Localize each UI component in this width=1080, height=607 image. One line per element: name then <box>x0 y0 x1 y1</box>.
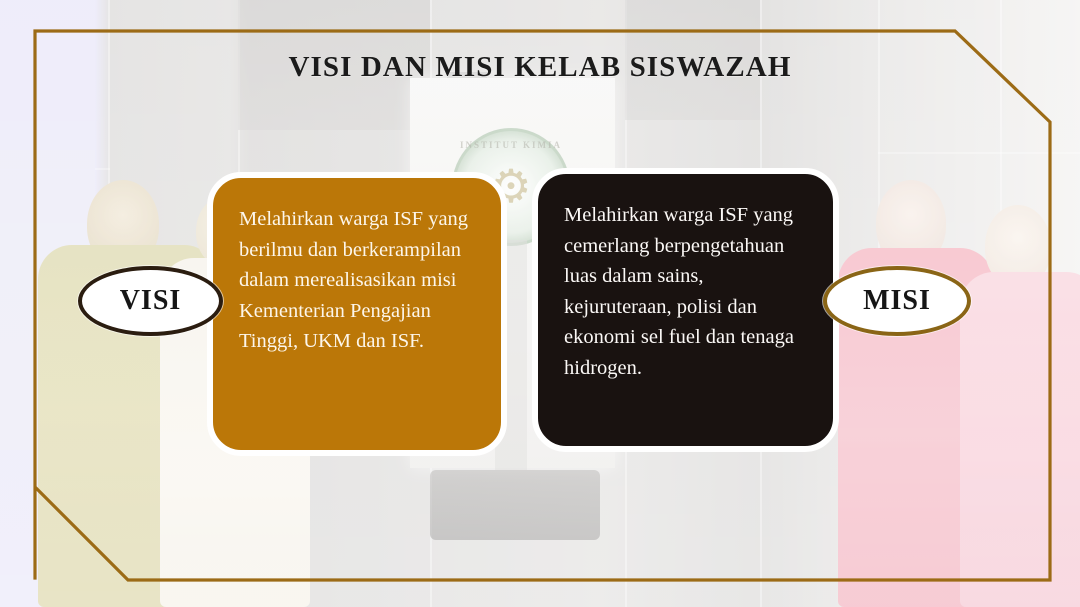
visi-badge-label: VISI <box>120 285 182 317</box>
slide-canvas: INSTITUT KIMIA ⚙ VISI DAN MISI KELAB SIS… <box>0 0 1080 607</box>
page-title: VISI DAN MISI KELAB SISWAZAH <box>0 51 1080 84</box>
visi-card: Melahirkan warga ISF yang berilmu dan be… <box>207 172 507 456</box>
misi-badge-label: MISI <box>863 285 931 317</box>
misi-card-text: Melahirkan warga ISF yang cemerlang berp… <box>564 200 807 383</box>
misi-card: Melahirkan warga ISF yang cemerlang berp… <box>532 168 839 452</box>
visi-badge: VISI <box>78 266 223 336</box>
visi-card-text: Melahirkan warga ISF yang berilmu dan be… <box>239 204 475 357</box>
misi-badge: MISI <box>823 266 971 336</box>
